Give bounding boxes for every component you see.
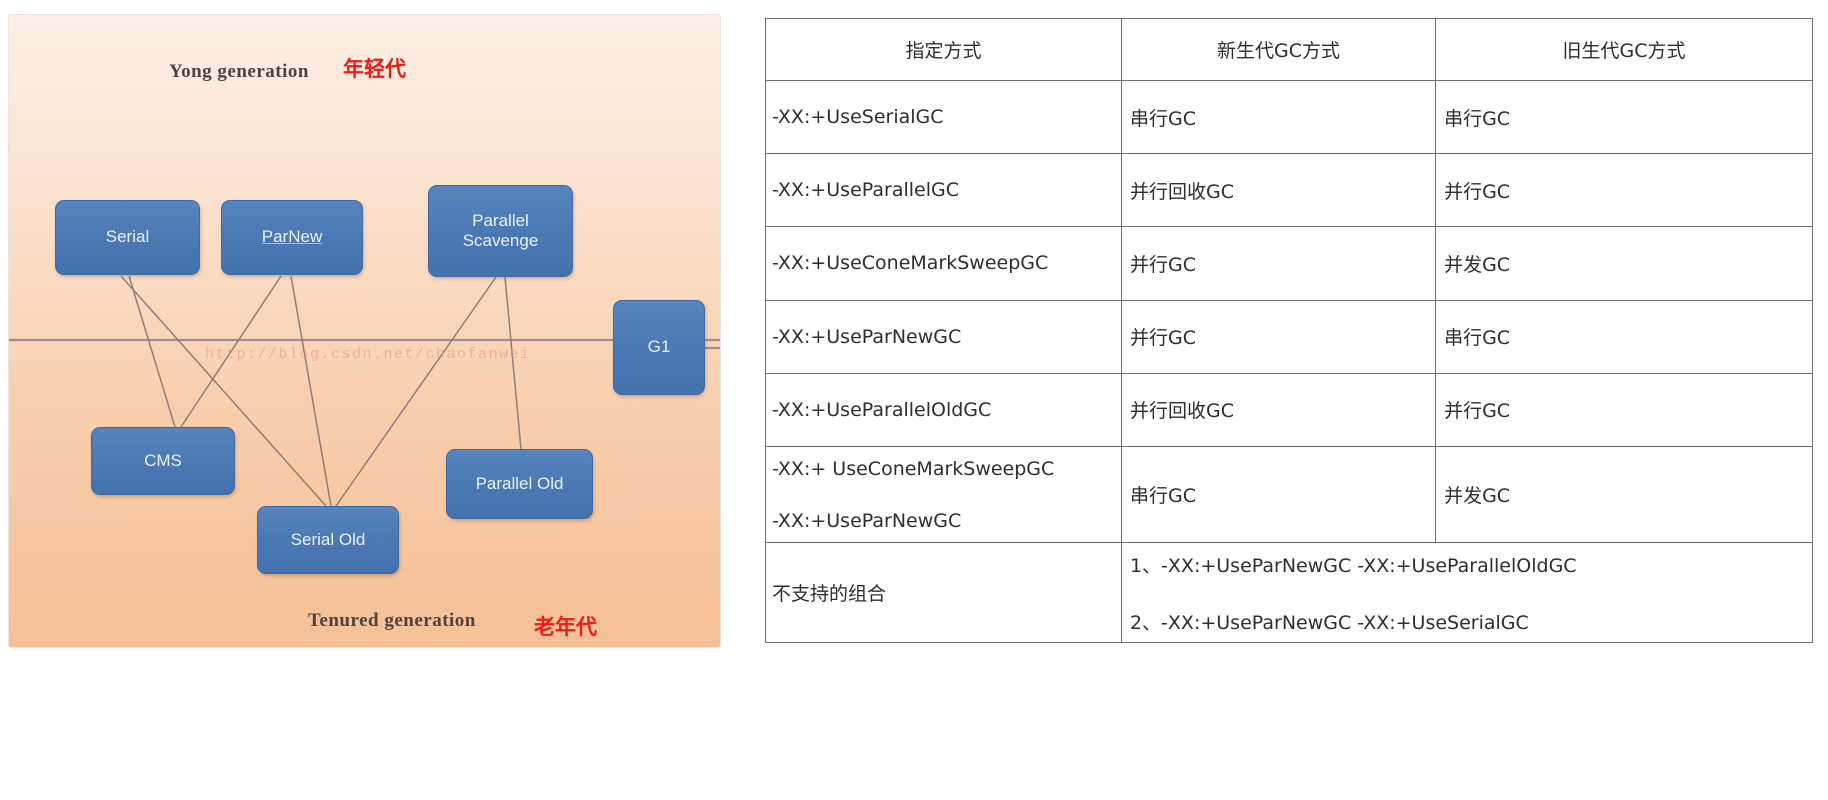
cell-option-line1: -XX:+ UseConeMarkSweepGC [772, 458, 1113, 480]
column-header-option: 指定方式 [766, 19, 1122, 81]
table-row: -XX:+UseParallelOldGC 并行回收GC 并行GC [766, 373, 1813, 446]
gc-options-table: 指定方式 新生代GC方式 旧生代GC方式 -XX:+UseSerialGC 串行… [765, 18, 1813, 643]
gc-generation-diagram: Yong generation 年轻代 Tenured generation 老… [8, 14, 721, 648]
column-header-old-gc: 旧生代GC方式 [1436, 19, 1813, 81]
node-cms: CMS [91, 427, 235, 495]
tenured-generation-label: Tenured generation [308, 610, 476, 632]
cell-option: -XX:+UseParNewGC [766, 300, 1122, 373]
cell-option: -XX:+UseParallelOldGC [766, 373, 1122, 446]
node-g1: G1 [613, 300, 705, 395]
screenshot-root: Yong generation 年轻代 Tenured generation 老… [0, 0, 1828, 800]
cell-young-gc: 并行GC [1121, 300, 1435, 373]
cell-old-gc: 串行GC [1436, 81, 1813, 154]
table-row: -XX:+UseParallelGC 并行回收GC 并行GC [766, 154, 1813, 227]
node-parnew-label: ParNew [262, 227, 322, 247]
table-row: -XX:+UseParNewGC 并行GC 串行GC [766, 300, 1813, 373]
cell-option: -XX:+UseSerialGC [766, 81, 1122, 154]
tenured-generation-label-cn: 老年代 [534, 611, 597, 641]
cell-option: -XX:+UseConeMarkSweepGC [766, 227, 1122, 300]
node-serial-old-label: Serial Old [291, 530, 366, 550]
cell-old-gc: 并行GC [1436, 154, 1813, 227]
cell-old-gc: 并发GC [1436, 447, 1813, 543]
table-header-row: 指定方式 新生代GC方式 旧生代GC方式 [766, 19, 1813, 81]
cell-young-gc: 并行GC [1121, 227, 1435, 300]
cell-unsupported-label: 不支持的组合 [766, 543, 1122, 643]
gc-options-table-wrapper: 指定方式 新生代GC方式 旧生代GC方式 -XX:+UseSerialGC 串行… [765, 18, 1813, 643]
table-row: -XX:+UseConeMarkSweepGC 并行GC 并发GC [766, 227, 1813, 300]
node-parallel-scavenge-label-line2: Scavenge [463, 231, 539, 251]
node-parallel-old-label: Parallel Old [476, 474, 564, 494]
young-generation-label: Yong generation [169, 61, 309, 83]
unsupported-combination-2: 2、-XX:+UseParNewGC -XX:+UseSerialGC [1130, 608, 1804, 635]
cell-young-gc: 串行GC [1121, 447, 1435, 543]
cell-option-line2: -XX:+UseParNewGC [772, 510, 1113, 532]
node-serial-old: Serial Old [257, 506, 399, 574]
cell-unsupported-combinations: 1、-XX:+UseParNewGC -XX:+UseParallelOldGC… [1121, 543, 1812, 643]
node-g1-label: G1 [648, 337, 671, 357]
node-parallel-scavenge-label-line1: Parallel [463, 211, 539, 231]
cell-option-multiline: -XX:+ UseConeMarkSweepGC -XX:+UseParNewG… [766, 447, 1122, 543]
node-cms-label: CMS [144, 451, 182, 471]
cell-young-gc: 并行回收GC [1121, 373, 1435, 446]
young-generation-label-cn: 年轻代 [343, 53, 406, 83]
node-parallel-old: Parallel Old [446, 449, 593, 519]
node-serial-label: Serial [106, 227, 149, 247]
unsupported-combination-1: 1、-XX:+UseParNewGC -XX:+UseParallelOldGC [1130, 551, 1804, 578]
node-parnew: ParNew [221, 200, 363, 275]
table-row-combination: -XX:+ UseConeMarkSweepGC -XX:+UseParNewG… [766, 447, 1813, 543]
cell-young-gc: 串行GC [1121, 81, 1435, 154]
cell-option: -XX:+UseParallelGC [766, 154, 1122, 227]
column-header-young-gc: 新生代GC方式 [1121, 19, 1435, 81]
cell-old-gc: 串行GC [1436, 300, 1813, 373]
node-serial: Serial [55, 200, 200, 275]
table-row-unsupported: 不支持的组合 1、-XX:+UseParNewGC -XX:+UseParall… [766, 543, 1813, 643]
cell-young-gc: 并行回收GC [1121, 154, 1435, 227]
cell-old-gc: 并发GC [1436, 227, 1813, 300]
table-row: -XX:+UseSerialGC 串行GC 串行GC [766, 81, 1813, 154]
cell-old-gc: 并行GC [1436, 373, 1813, 446]
node-parallel-scavenge: Parallel Scavenge [428, 185, 573, 277]
